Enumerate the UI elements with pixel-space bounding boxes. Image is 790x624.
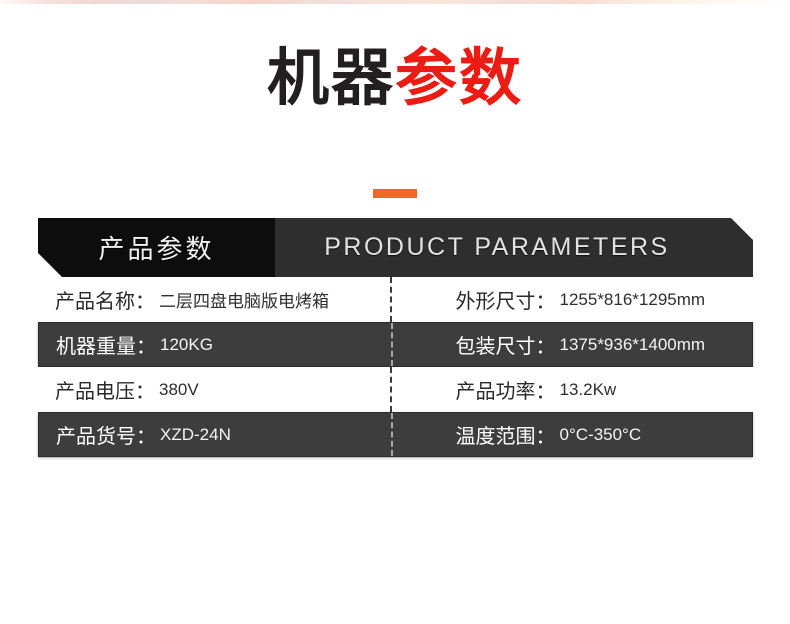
spec-value: 0°C-350°C: [560, 425, 642, 445]
spec-cell-right: 外形尺寸： 1255*816*1295mm: [396, 277, 754, 322]
header-right-panel: PRODUCT PARAMETERS: [275, 218, 753, 277]
header-right-label: PRODUCT PARAMETERS: [324, 233, 670, 262]
spec-cell-left: 产品电压： 380V: [38, 367, 396, 412]
spec-cell-right: 温度范围： 0°C-350°C: [396, 413, 753, 456]
spec-value: 13.2Kw: [560, 380, 617, 400]
header-left-panel: 产品参数: [38, 218, 275, 277]
header-left-label: 产品参数: [98, 229, 214, 266]
spec-value: 380V: [159, 380, 199, 400]
page-title: 机器参数: [0, 48, 790, 110]
table-row: 产品货号： XZD-24N 温度范围： 0°C-350°C: [38, 412, 753, 457]
spec-label: 产品名称：: [55, 285, 155, 314]
spec-value: 120KG: [160, 335, 213, 355]
column-divider: [390, 277, 392, 322]
spec-label: 外形尺寸：: [456, 285, 556, 314]
spec-label: 温度范围：: [456, 420, 556, 449]
spec-cell-right: 包装尺寸： 1375*936*1400mm: [396, 323, 753, 366]
column-divider: [391, 413, 393, 456]
table-row: 产品名称： 二层四盘电脑版电烤箱 外形尺寸： 1255*816*1295mm: [38, 277, 753, 322]
page-title-red-part: 参数: [395, 44, 523, 113]
specifications-block: 产品参数 PRODUCT PARAMETERS 产品名称： 二层四盘电脑版电烤箱…: [38, 218, 753, 457]
title-accent-rule: [373, 189, 417, 198]
spec-label: 包装尺寸：: [456, 330, 556, 359]
spec-value: 1255*816*1295mm: [560, 290, 706, 310]
top-color-strip: [0, 0, 790, 4]
spec-cell-left: 产品名称： 二层四盘电脑版电烤箱: [38, 277, 396, 322]
specifications-rows: 产品名称： 二层四盘电脑版电烤箱 外形尺寸： 1255*816*1295mm 机…: [38, 277, 753, 457]
page-title-text: 机器参数: [0, 48, 790, 110]
table-row: 产品电压： 380V 产品功率： 13.2Kw: [38, 367, 753, 412]
column-divider: [391, 323, 393, 366]
spec-label: 产品货号：: [56, 420, 156, 449]
specifications-header: 产品参数 PRODUCT PARAMETERS: [38, 218, 753, 277]
spec-cell-right: 产品功率： 13.2Kw: [396, 367, 754, 412]
spec-label: 产品电压：: [55, 375, 155, 404]
spec-label: 产品功率：: [456, 375, 556, 404]
table-row: 机器重量： 120KG 包装尺寸： 1375*936*1400mm: [38, 322, 753, 367]
spec-cell-left: 机器重量： 120KG: [39, 323, 396, 366]
column-divider: [390, 367, 392, 412]
spec-value: 二层四盘电脑版电烤箱: [159, 287, 329, 312]
spec-label: 机器重量：: [56, 330, 156, 359]
spec-value: XZD-24N: [160, 425, 231, 445]
spec-cell-left: 产品货号： XZD-24N: [39, 413, 396, 456]
page-title-black-part: 机器: [267, 44, 395, 113]
spec-value: 1375*936*1400mm: [560, 335, 706, 355]
